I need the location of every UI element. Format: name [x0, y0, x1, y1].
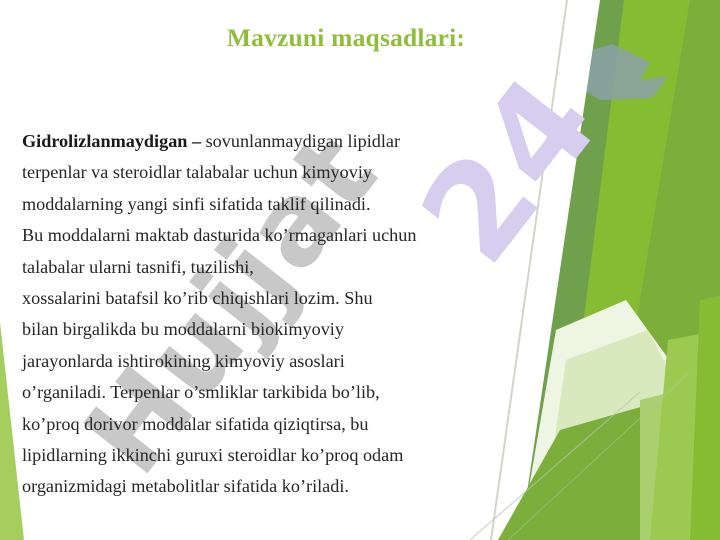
body-line: jarayonlarda ishtirokining kimyoviy asos…	[22, 346, 542, 377]
slide-title: Mavzuni maqsadlari:	[0, 23, 692, 53]
body-lead-term: Gidrolizlanmaydigan –	[22, 131, 201, 151]
body-line: talabalar ularni tasnifi, tuzilishi,	[22, 252, 542, 283]
body-line: terpenlar va steroidlar talabalar uchun …	[22, 157, 542, 188]
body-line: moddalarning yangi sinfi sifatida taklif…	[22, 189, 542, 220]
body-line: ko’proq dorivor moddalar sifatida qiziqt…	[22, 409, 542, 440]
body-line: bilan birgalikda bu moddalarni biokimyov…	[22, 314, 542, 345]
body-line: organizmidagi metabolitlar sifatida ko’r…	[22, 471, 542, 502]
body-line: Bu moddalarni maktab dasturida ko’rmagan…	[22, 220, 542, 251]
body-line: Gidrolizlanmaydigan – sovunlanmaydigan l…	[22, 126, 542, 157]
body-lead-rest: sovunlanmaydigan lipidlar	[201, 131, 400, 151]
slide-content: Mavzuni maqsadlari: Gidrolizlanmaydigan …	[0, 0, 720, 540]
body-line: o’rganiladi. Terpenlar o’smliklar tarkib…	[22, 377, 542, 408]
body-line: xossalarini batafsil ko’rib chiqishlari …	[22, 283, 542, 314]
body-line: lipidlarning ikkinchi guruxi steroidlar …	[22, 440, 542, 471]
slide-canvas: Hujjat 24 Mavzuni maqsadlari: Gidrolizla…	[0, 0, 720, 540]
slide-body: Gidrolizlanmaydigan – sovunlanmaydigan l…	[22, 126, 542, 503]
